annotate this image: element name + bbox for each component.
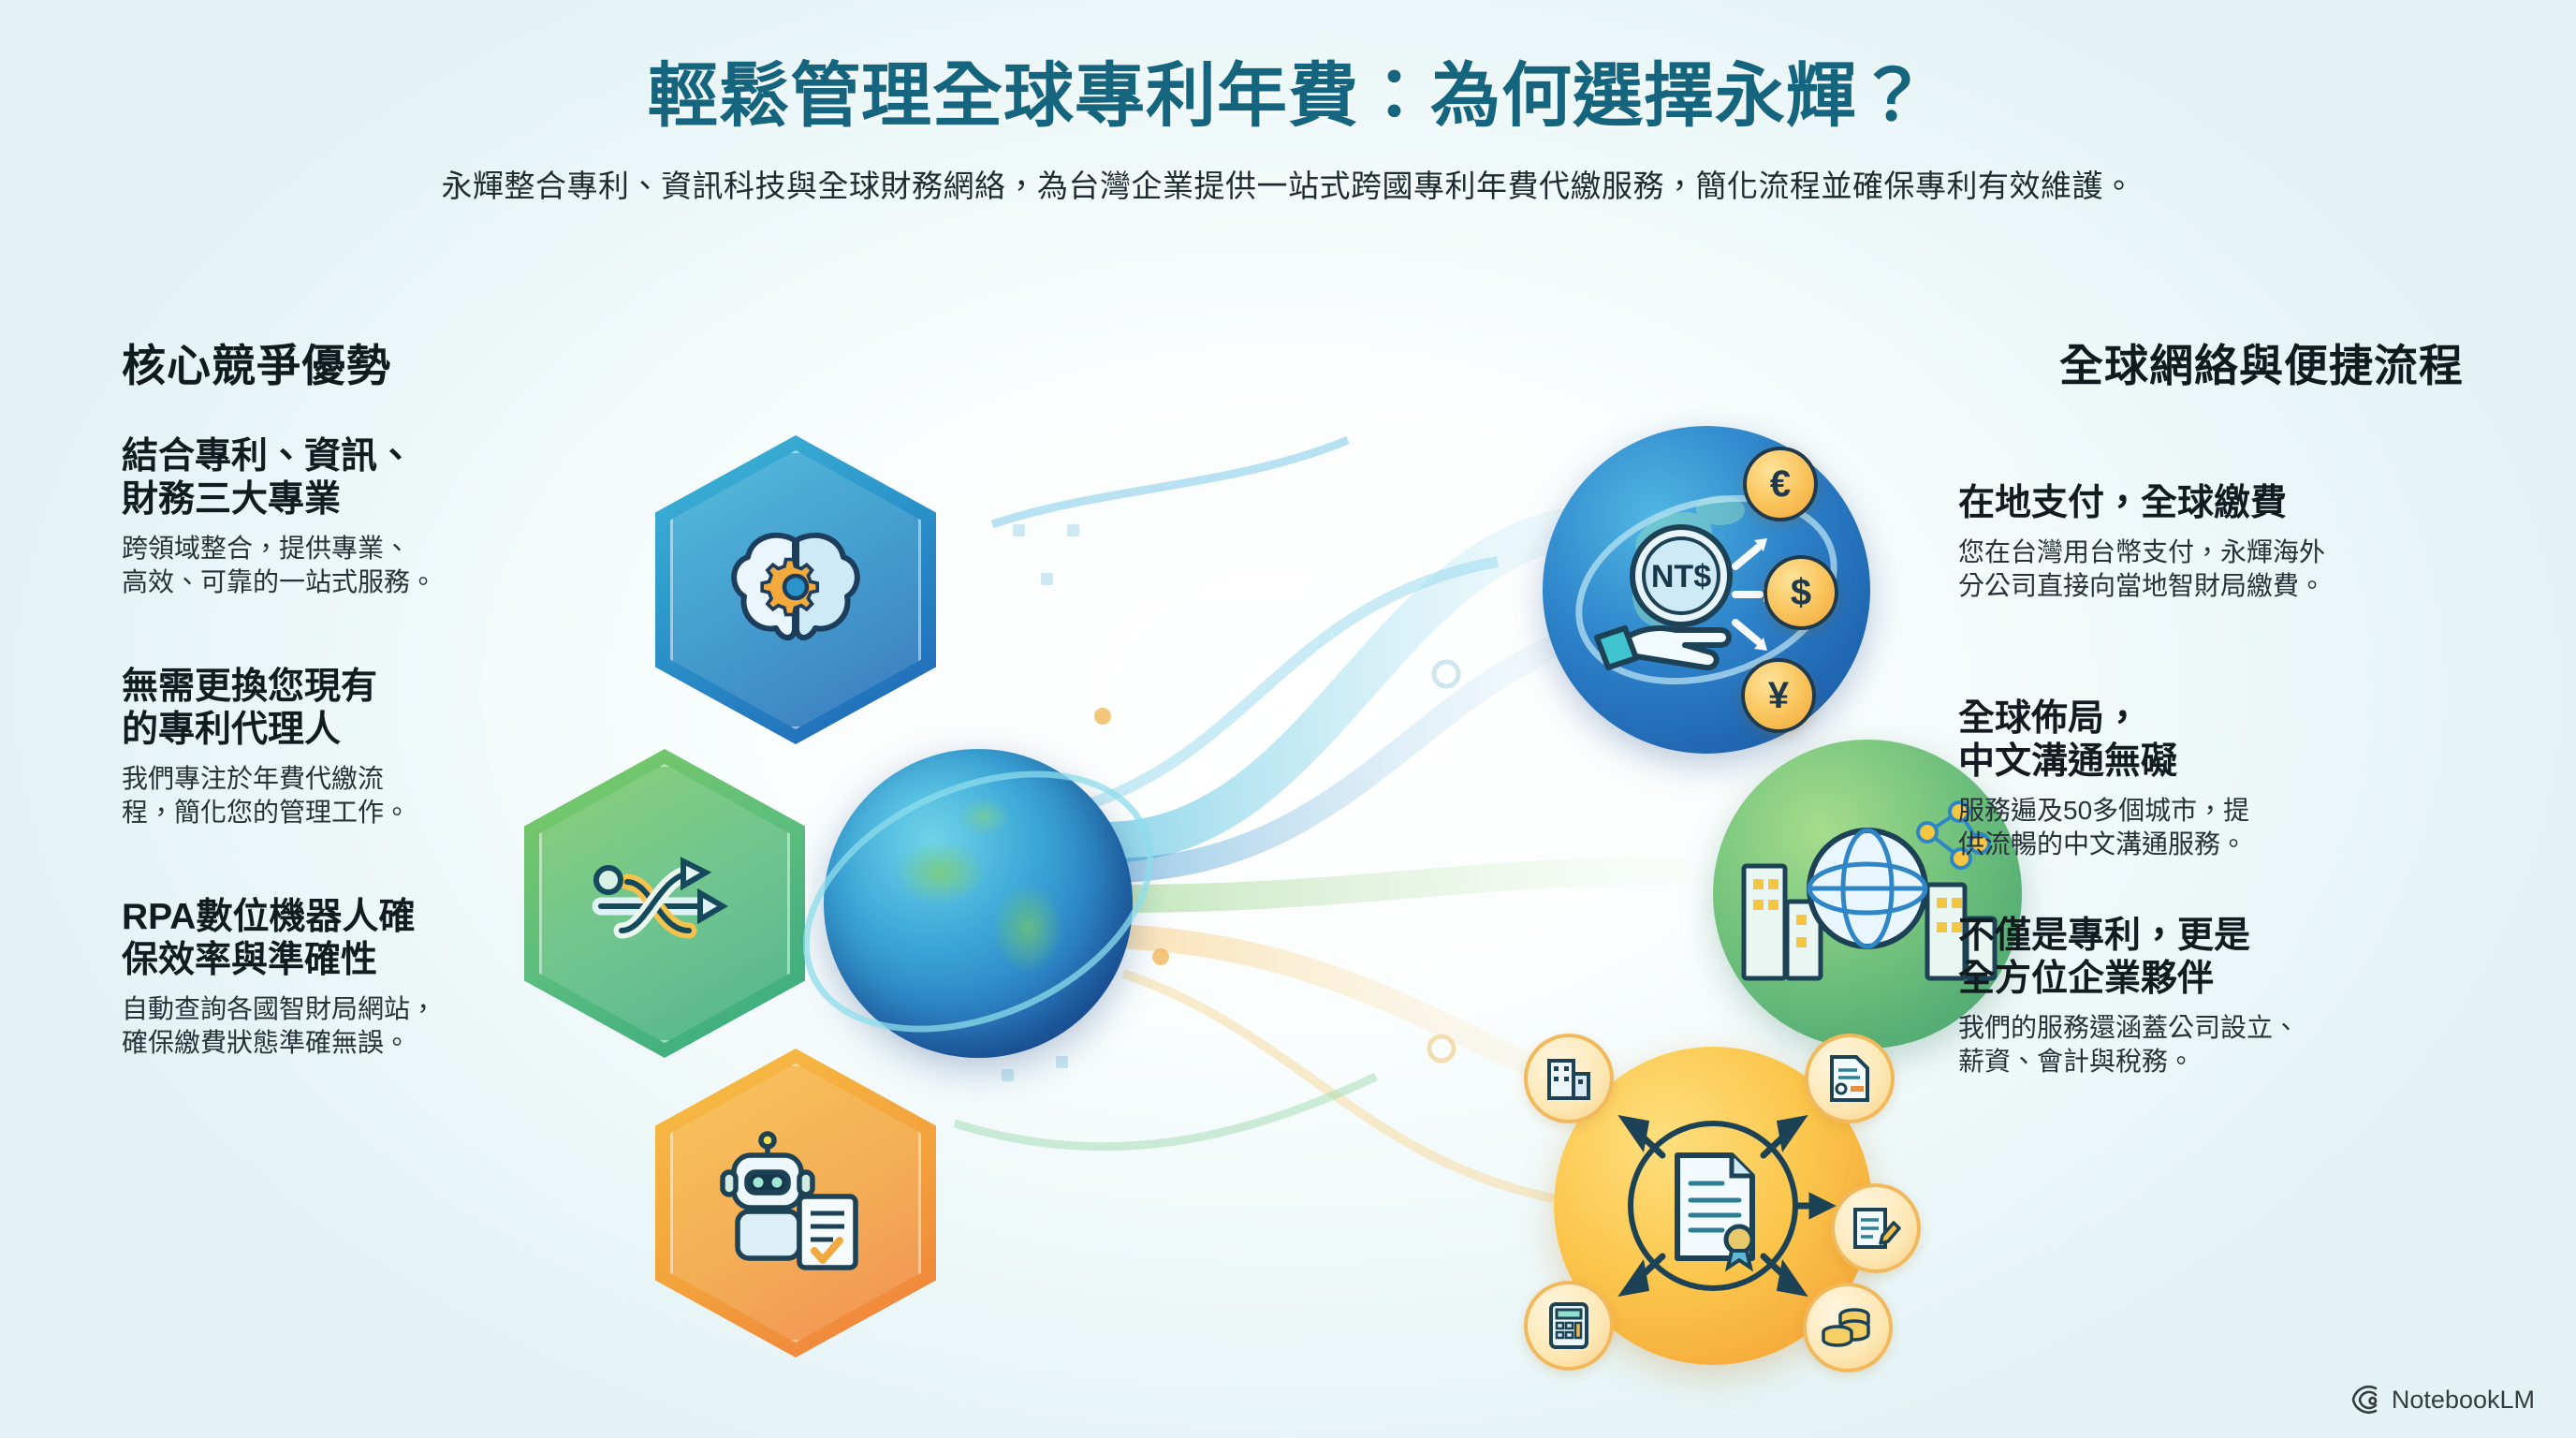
feature-item: 全球佈局， 中文溝通無礙 服務遍及50多個城市，提 供流暢的中文溝通服務。 [1958, 697, 2464, 862]
euro-coin: € [1743, 447, 1818, 521]
brain-gear-hexagon [655, 435, 936, 744]
feature-item: RPA數位機器人確 保效率與準確性 自動查詢各國智財局網站， 確保繳費狀態準確無… [122, 896, 627, 1061]
feature-description: 跨領域整合，提供專業、 高效、可靠的一站式服務。 [122, 532, 627, 600]
building-icon [1544, 1053, 1594, 1104]
globe-core [824, 749, 1133, 1058]
robot-document-icon [710, 1131, 883, 1276]
hexagon-inner-border [670, 1064, 921, 1343]
left-column-heading: 核心競爭優勢 [122, 330, 627, 394]
calculator-icon [1547, 1300, 1590, 1351]
feature-description: 我們專注於年費代繳流 程，簡化您的管理工作。 [122, 762, 627, 830]
edit-document-icon [1851, 1204, 1901, 1253]
hexagon-inner-border [670, 450, 921, 729]
yen-coin: ¥ [1741, 658, 1816, 733]
poster-header: 輕鬆管理全球專利年費：為何選擇永輝？ 永輝整合專利、資訊科技與全球財務網絡，為台… [0, 0, 2576, 208]
page-subtitle: 永輝整合專利、資訊科技與全球財務網絡，為台灣企業提供一站式跨國專利年費代繳服務，… [0, 166, 2576, 208]
payroll-document-badge [1805, 1034, 1895, 1123]
left-column: 核心競爭優勢 結合專利、資訊、 財務三大專業 跨領域整合，提供專業、 高效、可靠… [122, 330, 627, 1125]
right-column-heading: 全球網絡與便捷流程 [1958, 330, 2464, 394]
calculator-badge [1524, 1281, 1614, 1371]
feature-title: RPA數位機器人確 保效率與準確性 [122, 896, 627, 982]
feature-title: 無需更換您現有 的專利代理人 [122, 666, 627, 752]
certificate-services-icon [1573, 1065, 1853, 1346]
document-icon [1826, 1053, 1873, 1104]
accounting-edit-badge [1831, 1183, 1921, 1273]
feature-description: 我們的服務還涵蓋公司設立、 薪資、會計與稅務。 [1958, 1011, 2464, 1079]
feature-description: 自動查詢各國智財局網站， 確保繳費狀態準確無誤。 [122, 992, 627, 1061]
feature-item: 在地支付，全球繳費 您在台灣用台幣支付，永輝海外 分公司直接向當地智財局繳費。 [1958, 482, 2464, 604]
tax-coins-badge [1803, 1283, 1893, 1372]
watermark-label: NotebookLM [2392, 1386, 2535, 1415]
feature-title: 不僅是專利，更是 全方位企業夥伴 [1958, 915, 2464, 1001]
dollar-coin: $ [1764, 555, 1838, 630]
currency-payment-scene: NT$ € $ ¥ [1543, 426, 1870, 754]
notebooklm-watermark: NotebookLM [2349, 1384, 2535, 1416]
infographic-poster: 輕鬆管理全球專利年費：為何選擇永輝？ 永輝整合專利、資訊科技與全球財務網絡，為台… [0, 0, 2576, 1438]
feature-description: 服務遍及50多個城市，提 供流暢的中文溝通服務。 [1958, 794, 2464, 862]
globe-hand-coin-icon: NT$ [1571, 454, 1842, 726]
feature-title: 在地支付，全球繳費 [1958, 482, 2464, 525]
globe-orbit-ring [762, 720, 1194, 1084]
company-building-badge [1524, 1034, 1614, 1123]
svg-text:NT$: NT$ [1651, 559, 1711, 594]
feature-item: 不僅是專利，更是 全方位企業夥伴 我們的服務還涵蓋公司設立、 薪資、會計與稅務。 [1958, 915, 2464, 1079]
feature-item: 結合專利、資訊、 財務三大專業 跨領域整合，提供專業、 高效、可靠的一站式服務。 [122, 435, 627, 600]
feature-description: 您在台灣用台幣支付，永輝海外 分公司直接向當地智財局繳費。 [1958, 536, 2464, 604]
coins-stack-icon [1821, 1306, 1875, 1349]
notebooklm-spiral-icon [2349, 1384, 2380, 1416]
business-services-scene [1554, 1047, 1872, 1365]
robot-hexagon [655, 1049, 936, 1357]
feature-title: 結合專利、資訊、 財務三大專業 [122, 435, 627, 521]
feature-item: 無需更換您現有 的專利代理人 我們專注於年費代繳流 程，簡化您的管理工作。 [122, 666, 627, 830]
brain-gear-icon [716, 520, 875, 660]
feature-title: 全球佈局， 中文溝通無礙 [1958, 697, 2464, 784]
page-title: 輕鬆管理全球專利年費：為何選擇永輝？ [0, 58, 2576, 134]
right-column: 全球網絡與便捷流程 在地支付，全球繳費 您在台灣用台幣支付，永輝海外 分公司直接… [1958, 330, 2464, 1131]
